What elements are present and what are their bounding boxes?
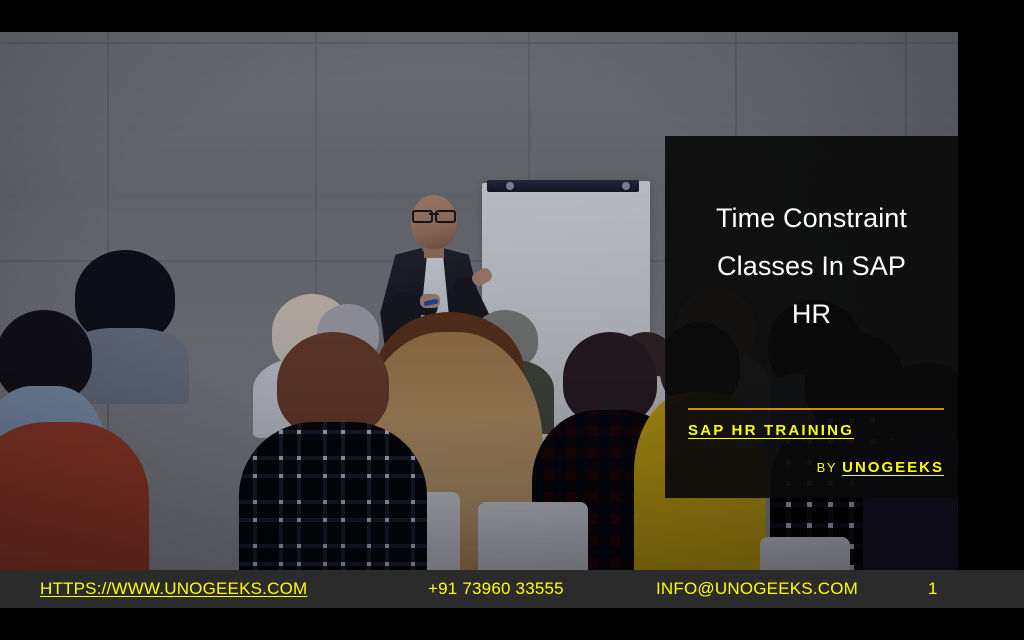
- flipchart-knob: [506, 182, 514, 190]
- audience-chair: [760, 537, 850, 570]
- website-link[interactable]: HTTPS://WWW.UNOGEEKS.COM: [40, 579, 307, 599]
- wall-grid-line: [0, 42, 958, 44]
- phone-number: +91 73960 33555: [428, 579, 564, 599]
- slide-page-number: 1: [928, 579, 938, 599]
- title-line-3: HR: [679, 290, 944, 338]
- audience-member: [0, 422, 150, 570]
- footer-bar: HTTPS://WWW.UNOGEEKS.COM +91 73960 33555…: [0, 570, 1024, 608]
- flipchart-knob: [622, 182, 630, 190]
- presenter-glasses: [410, 210, 458, 219]
- title-line-1: Time Constraint: [679, 194, 944, 242]
- audience-chair: [478, 502, 588, 570]
- by-label: BY: [817, 460, 837, 475]
- brand-name[interactable]: UNOGEEKS: [842, 459, 944, 476]
- accent-divider: [688, 408, 944, 410]
- audience-member: [300, 332, 450, 570]
- title-line-2: Classes In SAP: [679, 242, 944, 290]
- course-subtitle: SAP HR TRAINING: [688, 422, 854, 439]
- title-panel: Time Constraint Classes In SAP HR SAP HR…: [665, 136, 958, 498]
- presentation-slide: Time Constraint Classes In SAP HR SAP HR…: [0, 0, 1024, 640]
- byline: BY UNOGEEKS: [688, 459, 944, 476]
- email-address[interactable]: INFO@UNOGEEKS.COM: [656, 579, 858, 599]
- subtitle-block: SAP HR TRAINING BY UNOGEEKS: [688, 422, 944, 476]
